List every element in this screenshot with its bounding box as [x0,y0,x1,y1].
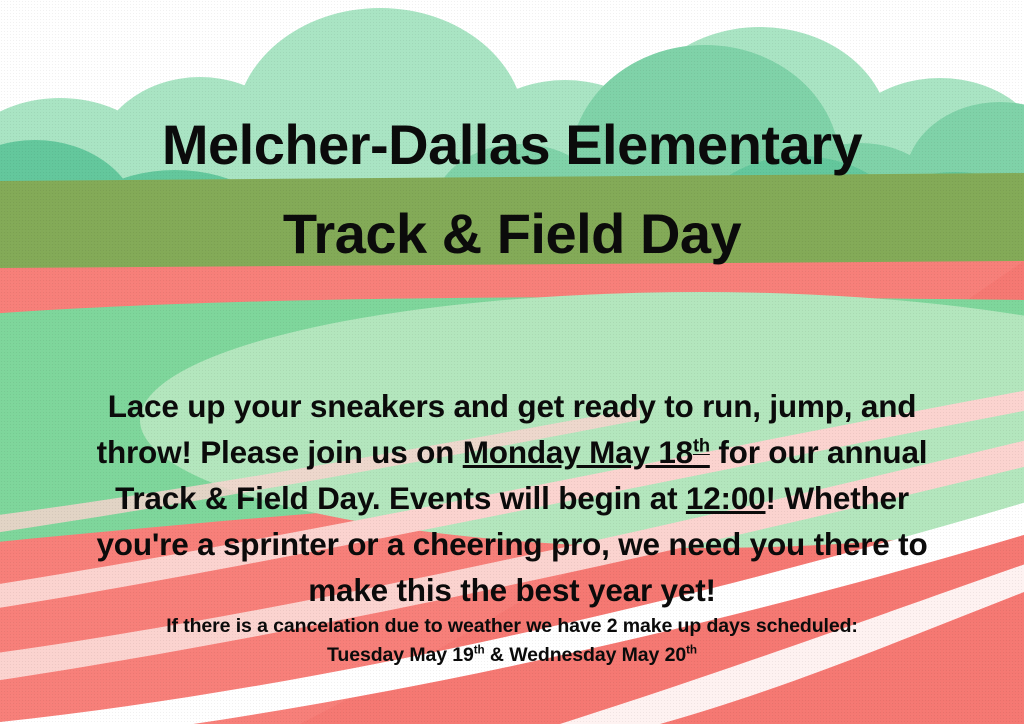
highlight-event-date-ordinal: th [693,435,710,456]
makeup-day-2-text: Wednesday May 20 [509,644,686,666]
poster-title-line-1: Melcher-Dallas Elementary [0,116,1024,173]
makeup-day-2: Wednesday May 20th [509,644,697,666]
highlight-event-date-text: Monday May 18 [463,434,693,470]
poster-canvas: Melcher-Dallas Elementary Track & Field … [0,0,1024,724]
poster-title-line-2: Track & Field Day [0,205,1024,262]
makeup-day-1: Tuesday May 19th [327,644,485,666]
poster-makeup-days-note: If there is a cancelation due to weather… [92,612,932,670]
makeup-day-1-ordinal: th [474,644,485,657]
makeup-note-line-1: If there is a cancelation due to weather… [92,612,932,641]
makeup-note-line-2: Tuesday May 19th & Wednesday May 20th [92,641,932,670]
highlight-event-date: Monday May 18th [463,434,710,470]
poster-body-text: Lace up your sneakers and get ready to r… [92,383,932,613]
makeup-day-separator: & [485,644,510,666]
makeup-day-1-text: Tuesday May 19 [327,644,474,666]
makeup-day-2-ordinal: th [686,644,697,657]
highlight-event-time: 12:00 [686,480,766,516]
